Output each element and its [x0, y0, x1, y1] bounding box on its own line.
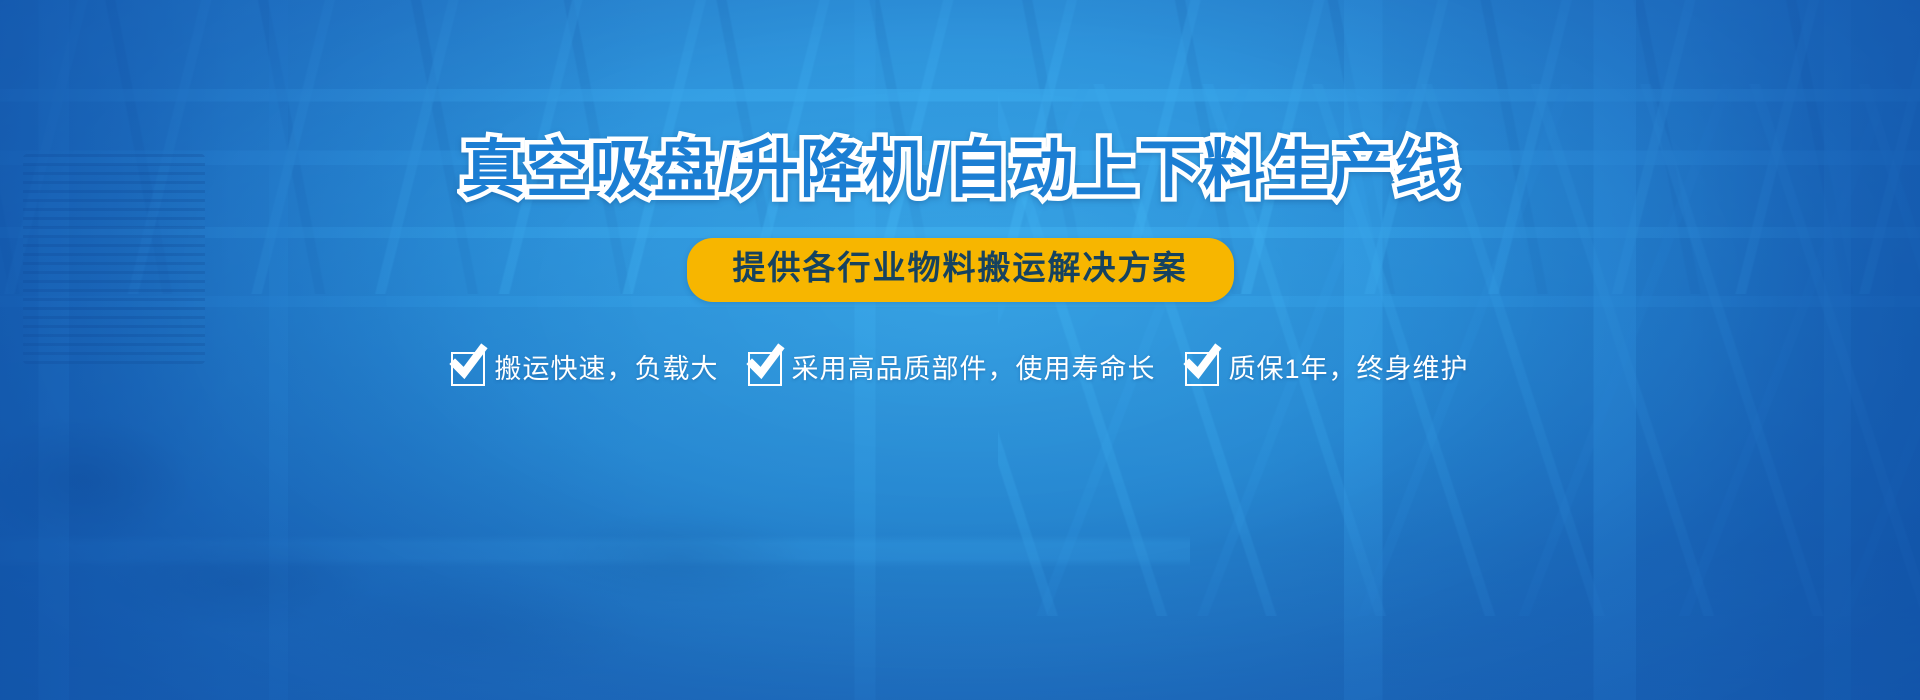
feature-item: 采用高品质部件，使用寿命长: [748, 352, 1155, 386]
checkbox-checked-icon: [1185, 352, 1219, 386]
banner-tagline-pill: 提供各行业物料搬运解决方案: [687, 238, 1234, 302]
feature-item: 质保1年，终身维护: [1185, 352, 1468, 386]
feature-item: 搬运快速，负载大: [451, 352, 718, 386]
feature-label: 质保1年，终身维护: [1228, 356, 1468, 383]
banner-content: 真空吸盘/升降机/自动上下料生产线 提供各行业物料搬运解决方案 搬运快速，负载大…: [0, 0, 1920, 700]
checkbox-checked-icon: [748, 352, 782, 386]
promo-banner: 真空吸盘/升降机/自动上下料生产线 提供各行业物料搬运解决方案 搬运快速，负载大…: [0, 0, 1920, 700]
feature-label: 采用高品质部件，使用寿命长: [791, 356, 1155, 383]
banner-headline: 真空吸盘/升降机/自动上下料生产线: [461, 138, 1458, 202]
feature-list: 搬运快速，负载大 采用高品质部件，使用寿命长 质保1年，终身维护: [451, 352, 1468, 386]
feature-label: 搬运快速，负载大: [494, 356, 718, 383]
checkbox-checked-icon: [451, 352, 485, 386]
